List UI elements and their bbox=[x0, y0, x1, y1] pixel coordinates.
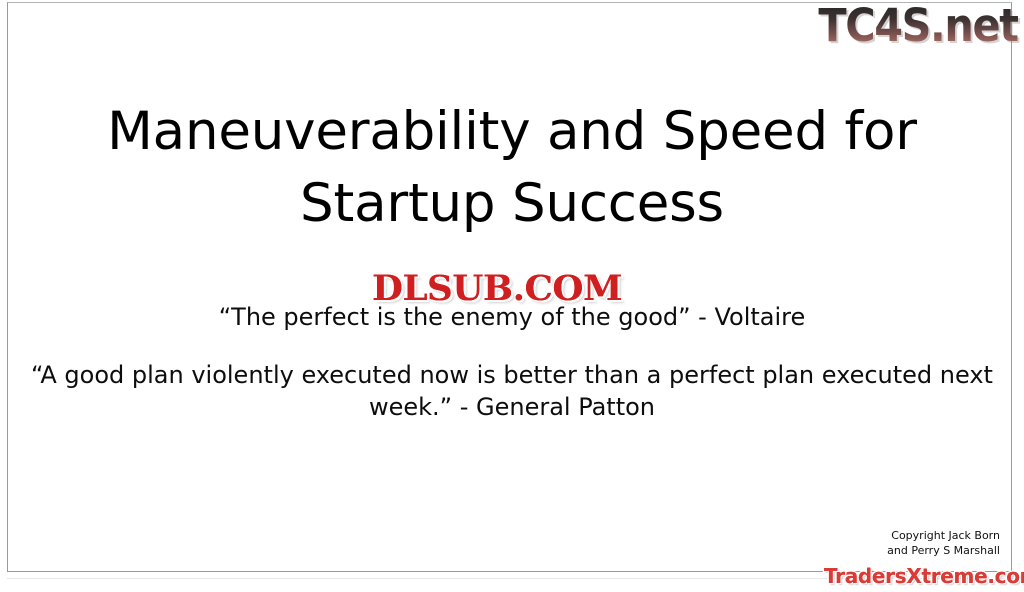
slide-title: Maneuverability and Speed for Startup Su… bbox=[0, 96, 1024, 240]
slide-title-line-1: Maneuverability and Speed for bbox=[0, 96, 1024, 168]
copyright-notice: Copyright Jack Born and Perry S Marshall bbox=[760, 528, 1000, 558]
tc4s-logo-watermark: TC4S.net bbox=[819, 1, 1018, 51]
copyright-line-2: and Perry S Marshall bbox=[760, 543, 1000, 558]
quote-patton: “A good plan violently executed now is b… bbox=[30, 359, 994, 423]
slide-title-line-2: Startup Success bbox=[0, 168, 1024, 240]
copyright-line-1: Copyright Jack Born bbox=[760, 528, 1000, 543]
dlsub-watermark: DLSUB.COM bbox=[372, 271, 622, 307]
tradersxtreme-banner: TradersXtreme.com bbox=[824, 563, 1024, 589]
presentation-slide: Maneuverability and Speed for Startup Su… bbox=[0, 0, 1024, 592]
